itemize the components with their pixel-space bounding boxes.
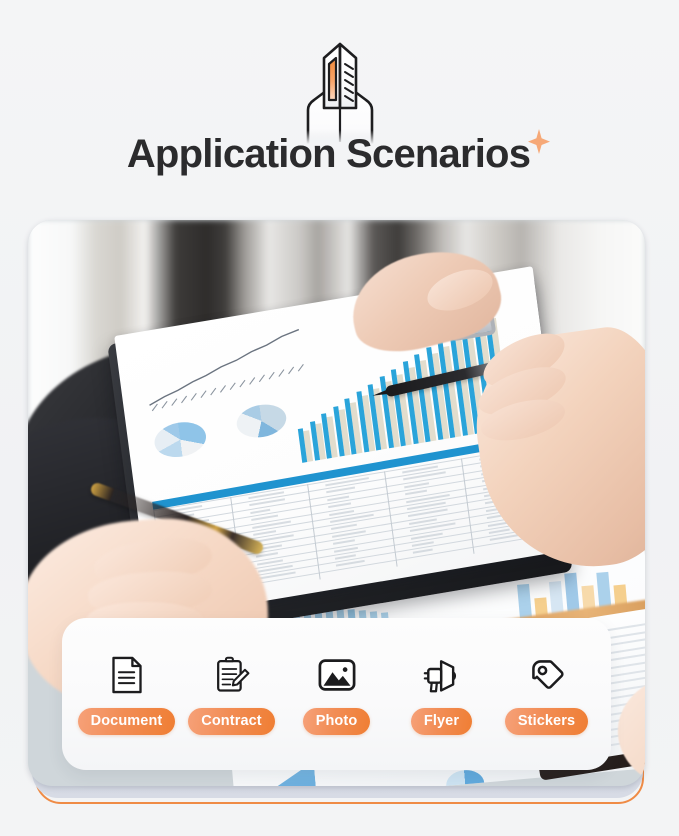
category-panel: Document Contract <box>62 618 611 770</box>
title-row: Application Scenarios <box>0 126 679 182</box>
category-stickers[interactable]: Stickers <box>497 654 597 735</box>
contract-icon <box>211 654 253 696</box>
stickers-icon <box>526 654 568 696</box>
page-title: Application Scenarios <box>127 126 530 182</box>
category-flyer[interactable]: Flyer <box>392 654 492 735</box>
sparkle-icon <box>526 128 552 158</box>
category-label[interactable]: Contract <box>188 708 274 735</box>
category-label[interactable]: Flyer <box>411 708 472 735</box>
header: Application Scenarios <box>0 0 679 212</box>
category-label[interactable]: Photo <box>303 708 371 735</box>
report-pie-chart-1 <box>152 418 208 460</box>
category-document[interactable]: Document <box>77 654 177 735</box>
category-contract[interactable]: Contract <box>182 654 282 735</box>
flyer-icon <box>421 654 463 696</box>
report-pie-chart-2 <box>235 401 288 441</box>
category-label[interactable]: Document <box>78 708 176 735</box>
document-icon <box>106 654 148 696</box>
photo-icon <box>316 654 358 696</box>
page-root: Application Scenarios <box>0 0 679 836</box>
category-label[interactable]: Stickers <box>505 708 588 735</box>
desk-paper-pie-2 <box>445 769 485 786</box>
category-photo[interactable]: Photo <box>287 654 387 735</box>
